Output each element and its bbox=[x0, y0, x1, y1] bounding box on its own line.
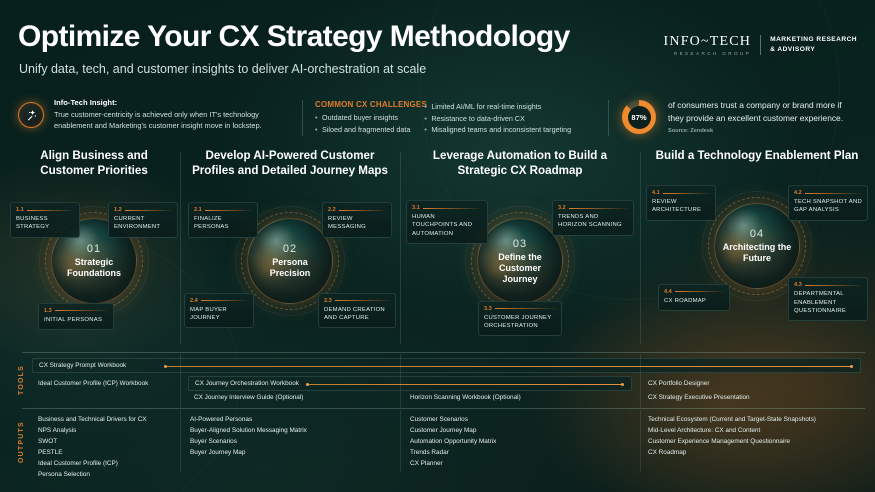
insight-body: True customer-centricity is achieved onl… bbox=[54, 109, 298, 131]
connector-dot-right bbox=[621, 383, 624, 386]
output-item: Trends Radar bbox=[410, 447, 496, 458]
phase-column-3: Leverage Automation to Build a Strategic… bbox=[404, 148, 636, 348]
output-item: CX Roadmap bbox=[648, 447, 816, 458]
tool-label: CX Strategy Prompt Workbook bbox=[39, 362, 126, 369]
output-item: Ideal Customer Profile (ICP) bbox=[38, 458, 147, 469]
brand-divider bbox=[760, 35, 761, 55]
node-rule bbox=[125, 210, 172, 211]
trust-statistic: 87% of consumers trust a company or bran… bbox=[622, 96, 858, 134]
brand-tagline: MARKETING RESEARCH & ADVISORY bbox=[770, 35, 857, 54]
brand-subname: RESEARCH GROUP bbox=[664, 51, 752, 56]
phase-heading-1: Align Business and Customer Priorities bbox=[8, 148, 180, 178]
phase-node-3-1[interactable]: 3.1 HUMAN TOUCHPOINTS AND AUTOMATION bbox=[406, 200, 488, 244]
phase-node-3-3[interactable]: 3.3 CUSTOMER JOURNEY ORCHESTRATION bbox=[478, 301, 562, 337]
tools-top-rule bbox=[22, 352, 865, 353]
stat-value: 87% bbox=[622, 100, 656, 134]
node-number: 1.3 bbox=[44, 308, 108, 314]
infographic-canvas: Optimize Your CX Strategy Methodology Un… bbox=[0, 0, 875, 492]
node-number-text: 2.1 bbox=[194, 207, 202, 213]
phase-node-2-1[interactable]: 2.1 FINALIZE PERSONAS bbox=[188, 202, 258, 238]
node-rule bbox=[569, 208, 628, 209]
node-number: 1.2 bbox=[114, 207, 172, 213]
node-label: REVIEW ARCHITECTURE bbox=[652, 198, 710, 215]
output-item: Automation Opportunity Matrix bbox=[410, 436, 496, 447]
node-number-text: 3.2 bbox=[558, 205, 566, 211]
phase-heading-4: Build a Technology Enablement Plan bbox=[644, 148, 870, 163]
tool-item-portfolio-designer[interactable]: CX Portfolio Designer bbox=[648, 380, 709, 387]
node-rule bbox=[805, 285, 862, 286]
node-number: 1.1 bbox=[16, 207, 74, 213]
output-item: Customer Experience Management Questionn… bbox=[648, 436, 816, 447]
outputs-divider-2 bbox=[400, 410, 401, 472]
node-number: 4.4 bbox=[664, 289, 724, 295]
stat-text-block: of consumers trust a company or brand mo… bbox=[668, 96, 858, 134]
phase-sphere-2: 02 Persona Precision bbox=[247, 218, 333, 304]
sphere-number: 02 bbox=[283, 243, 297, 255]
challenges-column-2: Limited AI/ML for real-time insights Res… bbox=[424, 101, 571, 136]
node-number-text: 3.1 bbox=[412, 205, 420, 211]
tools-divider-2 bbox=[400, 354, 401, 408]
node-label: TECH SNAPSHOT AND GAP ANALYSIS bbox=[794, 198, 862, 215]
node-number: 4.1 bbox=[652, 190, 710, 196]
phase-node-4-2[interactable]: 4.2 TECH SNAPSHOT AND GAP ANALYSIS bbox=[788, 185, 868, 221]
node-label: BUSINESS STRATEGY bbox=[16, 215, 74, 232]
tool-item-exec-presentation[interactable]: CX Strategy Executive Presentation bbox=[648, 394, 750, 401]
output-item: Technical Ecosystem (Current and Target-… bbox=[648, 414, 816, 425]
node-label: MAP BUYER JOURNEY bbox=[190, 306, 248, 323]
brand-mark: INFO~TECH RESEARCH GROUP bbox=[664, 34, 752, 56]
tool-connector-1 bbox=[165, 366, 852, 367]
phase-column-1: Align Business and Customer Priorities 0… bbox=[8, 148, 180, 348]
phase-stage-4: 04 Architecting the Future 4.1 REVIEW AR… bbox=[644, 171, 870, 321]
node-number: 4.2 bbox=[794, 190, 862, 196]
node-number-text: 2.4 bbox=[190, 298, 198, 304]
output-item: Buyer Journey Map bbox=[190, 447, 307, 458]
output-item: Buyer Scenarios bbox=[190, 436, 307, 447]
challenge-item: Limited AI/ML for real-time insights bbox=[424, 101, 571, 113]
node-rule bbox=[335, 300, 390, 301]
outputs-divider-1 bbox=[180, 410, 181, 472]
tools-band-label: TOOLS bbox=[18, 358, 25, 402]
node-number-text: 4.1 bbox=[652, 190, 660, 196]
challenge-item: Siloed and fragmented data bbox=[315, 124, 410, 136]
output-item: Customer Scenarios bbox=[410, 414, 496, 425]
node-number-text: 1.1 bbox=[16, 207, 24, 213]
node-label: DEMAND CREATION AND CAPTURE bbox=[324, 306, 390, 323]
node-rule bbox=[675, 291, 724, 292]
percentage-ring-icon: 87% bbox=[622, 100, 656, 134]
sphere-number: 01 bbox=[87, 243, 101, 255]
output-item: Business and Technical Drivers for CX bbox=[38, 414, 147, 425]
strip-divider-2 bbox=[608, 100, 609, 136]
node-label: CUSTOMER JOURNEY ORCHESTRATION bbox=[484, 314, 556, 331]
common-cx-challenges: COMMON CX CHALLENGES Outdated buyer insi… bbox=[315, 100, 615, 136]
phase-node-4-3[interactable]: 4.3 DEPARTMENTAL ENABLEMENT QUESTIONNAIR… bbox=[788, 277, 868, 321]
challenge-item: Misaligned teams and inconsistent target… bbox=[424, 124, 571, 136]
column-divider-3 bbox=[640, 152, 641, 344]
node-number: 3.1 bbox=[412, 205, 482, 211]
insight-text-block: Info-Tech Insight: True customer-centric… bbox=[54, 98, 298, 131]
node-rule bbox=[663, 193, 710, 194]
tools-band: TOOLS CX Strategy Prompt Workbook CX Jou… bbox=[0, 352, 875, 408]
output-item: Customer Journey Map bbox=[410, 425, 496, 436]
connector-dot-left bbox=[306, 383, 309, 386]
challenge-item: Outdated buyer insights bbox=[315, 112, 410, 124]
sphere-number: 04 bbox=[750, 228, 764, 240]
node-label: CURRENT ENVIRONMENT bbox=[114, 215, 172, 232]
node-rule bbox=[201, 300, 248, 301]
node-rule bbox=[423, 208, 482, 209]
tool-item-icp-workbook[interactable]: Ideal Customer Profile (ICP) Workbook bbox=[38, 380, 148, 387]
outputs-column-4: Technical Ecosystem (Current and Target-… bbox=[648, 414, 816, 458]
outputs-band: OUTPUTS Business and Technical Drivers f… bbox=[0, 408, 875, 492]
node-rule bbox=[205, 210, 252, 211]
node-number-text: 4.4 bbox=[664, 289, 672, 295]
node-number-text: 4.2 bbox=[794, 190, 802, 196]
phase-column-2: Develop AI-Powered Customer Profiles and… bbox=[184, 148, 396, 348]
phase-node-2-4[interactable]: 2.4 MAP BUYER JOURNEY bbox=[184, 293, 254, 329]
tool-span-2[interactable]: CX Journey Orchestration Workbook bbox=[188, 376, 632, 391]
node-number: 2.2 bbox=[328, 207, 386, 213]
phase-stage-1: 01 Strategic Foundations 1.1 BUSINESS ST… bbox=[8, 186, 180, 336]
phase-node-4-1[interactable]: 4.1 REVIEW ARCHITECTURE bbox=[646, 185, 716, 221]
node-rule bbox=[495, 308, 556, 309]
stat-source: Source: Zendesk bbox=[668, 128, 858, 134]
header: Optimize Your CX Strategy Methodology Un… bbox=[0, 0, 875, 92]
node-label: HUMAN TOUCHPOINTS AND AUTOMATION bbox=[412, 213, 482, 238]
phase-node-4-4[interactable]: 4.4 CX ROADMAP bbox=[658, 284, 730, 311]
strip-divider-1 bbox=[302, 100, 303, 136]
output-item: SWOT bbox=[38, 436, 147, 447]
outputs-band-label: OUTPUTS bbox=[18, 416, 25, 468]
info-tech-insight: Info-Tech Insight: True customer-centric… bbox=[18, 98, 298, 131]
outputs-column-3: Customer Scenarios Customer Journey Map … bbox=[410, 414, 496, 469]
sphere-number: 03 bbox=[513, 238, 527, 250]
phase-heading-2: Develop AI-Powered Customer Profiles and… bbox=[184, 148, 396, 178]
node-number-text: 2.3 bbox=[324, 298, 332, 304]
phase-node-3-2[interactable]: 3.2 TRENDS AND HORIZON SCANNING bbox=[552, 200, 634, 236]
brand-tagline-line2: & ADVISORY bbox=[770, 45, 857, 55]
tool-item-horizon-scanning[interactable]: Horizon Scanning Workbook (Optional) bbox=[410, 394, 521, 401]
phase-node-1-2[interactable]: 1.2 CURRENT ENVIRONMENT bbox=[108, 202, 178, 238]
node-number: 2.3 bbox=[324, 298, 390, 304]
phase-node-1-3[interactable]: 1.3 INITIAL PERSONAS bbox=[38, 303, 114, 330]
column-divider-1 bbox=[180, 152, 181, 344]
outputs-column-1: Business and Technical Drivers for CX NP… bbox=[38, 414, 147, 480]
output-item: Persona Selection bbox=[38, 469, 147, 480]
outputs-divider-3 bbox=[640, 410, 641, 472]
sphere-name: Strategic Foundations bbox=[52, 257, 136, 279]
page-title: Optimize Your CX Strategy Methodology bbox=[18, 22, 570, 52]
output-item: PESTLE bbox=[38, 447, 147, 458]
phase-heading-3: Leverage Automation to Build a Strategic… bbox=[404, 148, 636, 178]
phase-sphere-3: 03 Define the Customer Journey bbox=[477, 218, 563, 304]
column-divider-2 bbox=[400, 152, 401, 344]
magic-wand-icon bbox=[18, 102, 44, 128]
connector-dot-right bbox=[850, 365, 853, 368]
phase-column-4: Build a Technology Enablement Plan 04 Ar… bbox=[644, 148, 870, 348]
tools-divider-3 bbox=[640, 354, 641, 408]
output-item: CX Planner bbox=[410, 458, 496, 469]
challenge-item: Resistance to data-driven CX bbox=[424, 113, 571, 125]
brand-tagline-line1: MARKETING RESEARCH bbox=[770, 35, 857, 45]
methodology-columns: Align Business and Customer Priorities 0… bbox=[0, 148, 875, 348]
stat-description: of consumers trust a company or brand mo… bbox=[668, 96, 858, 125]
sphere-name: Define the Customer Journey bbox=[478, 252, 562, 285]
node-label: REVIEW MESSAGING bbox=[328, 215, 386, 232]
output-item: NPS Analysis bbox=[38, 425, 147, 436]
output-item: AI-Powered Personas bbox=[190, 414, 307, 425]
node-number: 3.2 bbox=[558, 205, 628, 211]
sphere-name: Architecting the Future bbox=[715, 242, 799, 264]
tool-connector-2 bbox=[307, 384, 623, 385]
page-subtitle: Unify data, tech, and customer insights … bbox=[19, 62, 426, 76]
node-number: 2.4 bbox=[190, 298, 248, 304]
node-rule bbox=[339, 210, 386, 211]
phase-node-1-1[interactable]: 1.1 BUSINESS STRATEGY bbox=[10, 202, 80, 238]
node-label: FINALIZE PERSONAS bbox=[194, 215, 252, 232]
node-number-text: 3.3 bbox=[484, 306, 492, 312]
node-label: DEPARTMENTAL ENABLEMENT QUESTIONNAIRE bbox=[794, 290, 862, 315]
outputs-top-rule bbox=[22, 408, 865, 409]
challenges-columns: Outdated buyer insights Siloed and fragm… bbox=[315, 112, 615, 136]
phase-stage-2: 02 Persona Precision 2.1 FINALIZE PERSON… bbox=[184, 186, 396, 336]
node-number-text: 1.3 bbox=[44, 308, 52, 314]
node-rule bbox=[805, 193, 862, 194]
node-number: 2.1 bbox=[194, 207, 252, 213]
tool-item-interview-guide[interactable]: CX Journey Interview Guide (Optional) bbox=[194, 394, 303, 401]
tool-span-1[interactable]: CX Strategy Prompt Workbook bbox=[32, 358, 861, 373]
node-number-text: 4.3 bbox=[794, 282, 802, 288]
outputs-column-2: AI-Powered Personas Buyer-Aligned Soluti… bbox=[190, 414, 307, 458]
node-number: 4.3 bbox=[794, 282, 862, 288]
brand-logo: INFO~TECH RESEARCH GROUP MARKETING RESEA… bbox=[664, 34, 857, 56]
node-label: TRENDS AND HORIZON SCANNING bbox=[558, 213, 628, 230]
challenges-column-1: Outdated buyer insights Siloed and fragm… bbox=[315, 112, 410, 136]
node-rule bbox=[55, 310, 108, 311]
brand-name: INFO~TECH bbox=[664, 34, 752, 50]
output-item: Mid-Level Architecture: CX and Content bbox=[648, 425, 816, 436]
phase-node-2-3[interactable]: 2.3 DEMAND CREATION AND CAPTURE bbox=[318, 293, 396, 329]
tool-label: CX Journey Orchestration Workbook bbox=[195, 380, 299, 387]
node-number-text: 1.2 bbox=[114, 207, 122, 213]
connector-dot-left bbox=[164, 365, 167, 368]
phase-node-2-2[interactable]: 2.2 REVIEW MESSAGING bbox=[322, 202, 392, 238]
node-label: INITIAL PERSONAS bbox=[44, 316, 108, 324]
node-rule bbox=[27, 210, 74, 211]
node-number: 3.3 bbox=[484, 306, 556, 312]
sphere-name: Persona Precision bbox=[248, 257, 332, 279]
output-item: Buyer-Aligned Solution Messaging Matrix bbox=[190, 425, 307, 436]
node-number-text: 2.2 bbox=[328, 207, 336, 213]
node-label: CX ROADMAP bbox=[664, 297, 724, 305]
tools-divider-1 bbox=[180, 354, 181, 408]
phase-stage-3: 03 Define the Customer Journey 3.1 HUMAN… bbox=[404, 186, 636, 336]
insight-title: Info-Tech Insight: bbox=[54, 98, 298, 107]
